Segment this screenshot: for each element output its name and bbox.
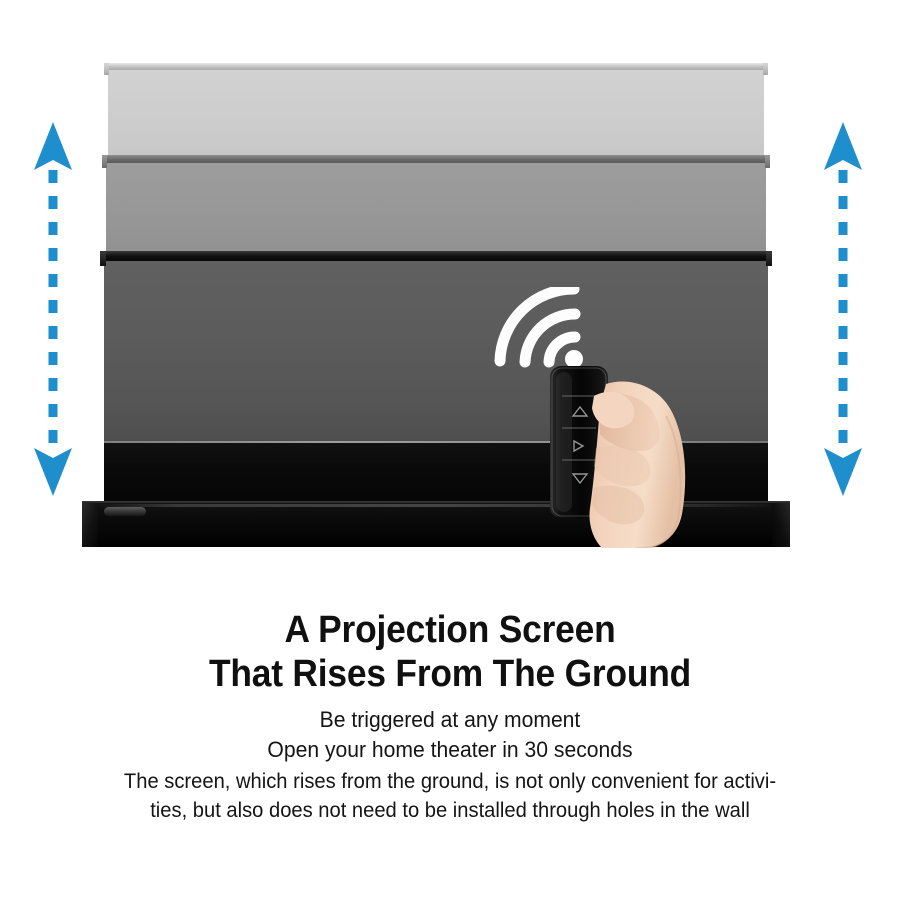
product-marketing-banner: A Projection Screen That Rises From The … (0, 0, 900, 900)
screen-panel-rear (108, 66, 764, 162)
base-cabinet-right-end (772, 503, 790, 547)
screen-panel-front-tension-bar (100, 251, 772, 261)
hand (590, 382, 686, 548)
product-illustration (0, 0, 900, 580)
headline-line-1: A Projection Screen (32, 608, 869, 652)
headline: A Projection Screen That Rises From The … (32, 608, 869, 696)
body-copy-line-2: ties, but also does not need to be insta… (18, 796, 882, 825)
screen-panel-middle-tension-bar (102, 155, 770, 163)
body-copy: The screen, which rises from the ground,… (18, 767, 882, 825)
wifi-signal-icon (492, 287, 614, 369)
hand-holding-remote (536, 362, 716, 548)
body-copy-line-1: The screen, which rises from the ground,… (18, 767, 882, 796)
caption-block: A Projection Screen That Rises From The … (0, 608, 900, 825)
subcopy-line-1: Be triggered at any moment (18, 705, 882, 735)
base-cabinet-left-end (82, 503, 98, 547)
rise-arrow-right (822, 118, 864, 500)
subcopy-line-2: Open your home theater in 30 seconds (18, 735, 882, 765)
headline-line-2: That Rises From The Ground (32, 652, 869, 696)
screen-panel-rear-tension-bar (104, 63, 768, 70)
rise-arrow-left (32, 118, 74, 500)
screen-panel-middle (106, 162, 766, 254)
base-control-panel (104, 507, 146, 516)
subcopy: Be triggered at any moment Open your hom… (18, 705, 882, 765)
